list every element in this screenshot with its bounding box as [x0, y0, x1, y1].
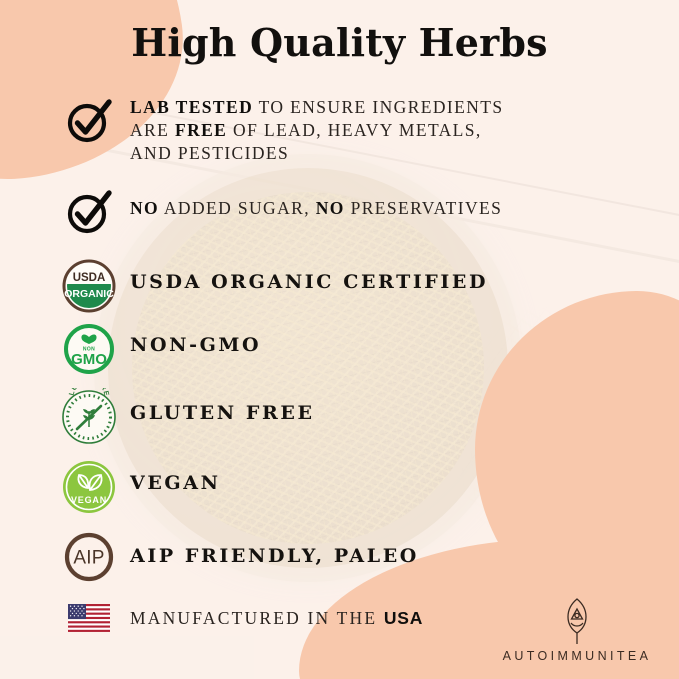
list-item-label: MANUFACTURED IN THE USA [130, 604, 423, 629]
badge-cell [58, 187, 120, 237]
usda-bottom-text: ORGANIC [64, 288, 114, 300]
text-line: AND PESTICIDES [130, 142, 503, 165]
list-item-no-added-sugar: NO ADDED SUGAR, NO PRESERVATIVES [58, 187, 502, 237]
list-item-label: NO ADDED SUGAR, NO PRESERVATIVES [130, 187, 502, 220]
non-gmo-badge-icon: NON GMO [62, 322, 116, 376]
brand-logo: AUTOIMMUNITEA [497, 597, 657, 663]
text-line: NO ADDED SUGAR, NO PRESERVATIVES [130, 197, 502, 220]
usa-flag-icon [68, 604, 110, 632]
page-title: High Quality Herbs [0, 20, 679, 65]
list-item-aip: AIP AIP FRIENDLY, PALEO [58, 530, 419, 584]
text-line: MANUFACTURED IN THE USA [130, 608, 423, 629]
badge-cell [58, 96, 120, 146]
list-item-vegan: VEGAN VEGAN [58, 458, 221, 516]
product-infographic-poster: High Quality Herbs LAB TESTED TO ENSURE … [0, 0, 679, 679]
list-item-non-gmo: NON GMO NON-GMO [58, 322, 261, 376]
list-item-label: AIP FRIENDLY, PALEO [130, 530, 419, 567]
badge-cell: USDA ORGANIC [58, 258, 120, 314]
vegan-text: VEGAN [71, 495, 107, 505]
aip-text: AIP [73, 548, 104, 569]
usda-top-text: USDA [73, 272, 106, 284]
list-item-label: USDA ORGANIC CERTIFIED [130, 258, 488, 293]
list-item-gluten-free: GLUTEN FREE GL [58, 388, 315, 446]
poster-content: High Quality Herbs LAB TESTED TO ENSURE … [0, 0, 679, 679]
text-line: LAB TESTED TO ENSURE INGREDIENTS [130, 96, 503, 119]
badge-cell [58, 604, 120, 632]
gluten-free-badge-icon: GLUTEN FREE [60, 388, 118, 446]
aip-badge-icon: AIP [62, 530, 116, 584]
list-item-made-in-usa: MANUFACTURED IN THE USA [58, 604, 423, 632]
list-item-label: LAB TESTED TO ENSURE INGREDIENTS ARE FRE… [130, 96, 503, 165]
badge-cell: NON GMO [58, 322, 120, 376]
checkmark-circle-icon [64, 96, 114, 146]
list-item-lab-tested: LAB TESTED TO ENSURE INGREDIENTS ARE FRE… [58, 96, 503, 165]
list-item-label: GLUTEN FREE [130, 388, 315, 424]
brand-name: AUTOIMMUNITEA [497, 649, 657, 663]
badge-cell: VEGAN [58, 458, 120, 516]
usda-organic-badge-icon: USDA ORGANIC [61, 258, 117, 314]
list-item-label: VEGAN [130, 458, 221, 494]
list-item-label: NON-GMO [130, 322, 261, 356]
list-item-usda-organic: USDA ORGANIC USDA ORGANIC CERTIFIED [58, 258, 488, 314]
badge-cell: GLUTEN FREE [58, 388, 120, 446]
badge-cell: AIP [58, 530, 120, 584]
vegan-badge-icon: VEGAN [60, 458, 118, 516]
leaf-logo-icon [497, 597, 657, 647]
non-gmo-main-text: GMO [71, 351, 107, 368]
checkmark-circle-icon [64, 187, 114, 237]
text-line: ARE FREE OF LEAD, HEAVY METALS, [130, 119, 503, 142]
